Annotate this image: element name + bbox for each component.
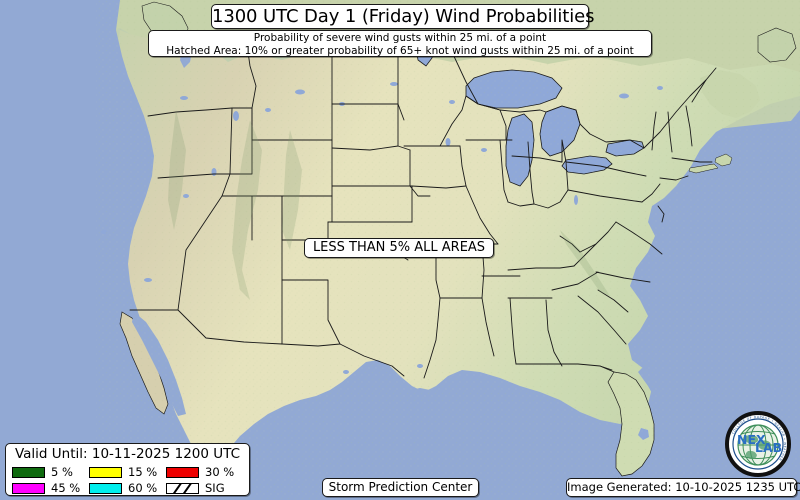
swatch-60pct-icon [89, 483, 122, 494]
legend-label-5pct: 5 % [51, 466, 73, 478]
source-attribution: Storm Prediction Center [322, 478, 479, 497]
legend-valid-until: Valid Until: 10-11-2025 1200 UTC [6, 446, 249, 463]
legend-item-5pct: 5 % [12, 464, 89, 480]
page-title: 1300 UTC Day 1 (Friday) Wind Probabiliti… [211, 4, 589, 29]
legend-panel: Valid Until: 10-11-2025 1200 UTC 5 % 15 … [5, 443, 250, 496]
legend-label-60pct: 60 % [128, 482, 157, 494]
product-description: Probability of severe wind gusts within … [148, 30, 652, 57]
legend-item-45pct: 45 % [12, 480, 89, 496]
description-line-1: Probability of severe wind gusts within … [149, 32, 651, 45]
wind-probability-forecast-map: 1300 UTC Day 1 (Friday) Wind Probabiliti… [0, 0, 800, 500]
legend-label-30pct: 30 % [205, 466, 234, 478]
swatch-15pct-icon [89, 467, 122, 478]
swatch-45pct-icon [12, 483, 45, 494]
swatch-5pct-icon [12, 467, 45, 478]
nexlab-globe-logo: COLLEGE OF DUPAGE • NEXLAB • WEATHER NEX… [722, 408, 794, 480]
description-line-2: Hatched Area: 10% or greater probability… [149, 45, 651, 58]
map-annotation-less-than-5-percent: LESS THAN 5% ALL AREAS [304, 238, 494, 258]
logo-wordmark-lab: LAB [755, 440, 782, 455]
legend-item-15pct: 15 % [89, 464, 166, 480]
legend-label-15pct: 15 % [128, 466, 157, 478]
swatch-30pct-icon [166, 467, 199, 478]
legend-label-45pct: 45 % [51, 482, 80, 494]
legend-swatch-grid: 5 % 15 % 30 % 45 % 60 % SIG [6, 463, 249, 496]
swatch-sig-hatched-icon [166, 483, 199, 494]
legend-item-60pct: 60 % [89, 480, 166, 496]
legend-item-sig: SIG [166, 480, 243, 496]
image-generated-timestamp: Image Generated: 10-10-2025 1235 UTC [566, 478, 797, 497]
legend-item-30pct: 30 % [166, 464, 243, 480]
legend-label-sig: SIG [205, 482, 225, 494]
